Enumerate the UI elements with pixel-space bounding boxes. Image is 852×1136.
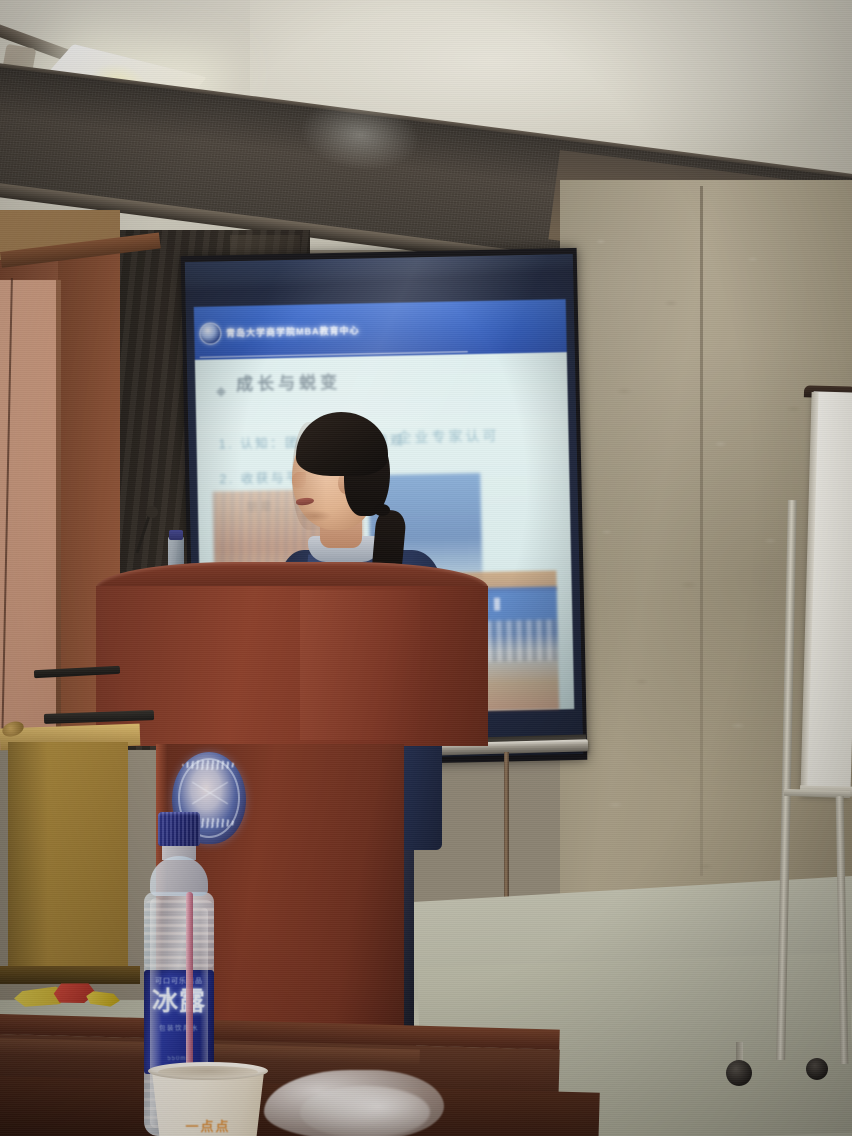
slide-header-band: 青岛大学商学院MBA教育中心	[193, 299, 567, 360]
pink-straw	[186, 892, 193, 1078]
cup-interior	[158, 1066, 258, 1078]
slide-header-text: 青岛大学商学院MBA教育中心	[226, 324, 360, 340]
slide-title-bullet-icon	[216, 387, 226, 397]
whiteboard-caster-wheel	[726, 1060, 752, 1086]
bottle-shoulder	[150, 856, 208, 896]
microphone-head-icon	[146, 506, 158, 518]
plastic-bag-highlight	[300, 1086, 430, 1136]
bottle-neck	[162, 844, 196, 860]
university-seal-icon	[199, 322, 221, 344]
lecture-hall-photo: 青岛大学商学院MBA教育中心 成长与蜕变 1. 认知：团队协作、价值观 2. 收…	[0, 0, 852, 1136]
paper-cup: 一点点	[148, 1062, 268, 1136]
presenter-hair-tie	[374, 504, 390, 516]
podium-body	[96, 586, 488, 746]
presenter-nose	[292, 472, 306, 488]
cup-body: 一点点	[152, 1072, 264, 1136]
slide-title: 成长与蜕变	[236, 367, 342, 394]
bottle-cap-ribs	[158, 812, 200, 846]
crest-text-upper	[182, 760, 236, 770]
chin-shadow	[298, 510, 332, 522]
cup-logo-text: 一点点	[162, 1116, 254, 1135]
slide-header-rule	[200, 351, 468, 358]
wall-seam	[700, 186, 703, 876]
side-table-base	[0, 966, 140, 984]
podium-sheen	[300, 590, 420, 740]
side-table-shadow	[8, 742, 48, 972]
whiteboard-caster-wheel-2	[806, 1058, 828, 1080]
left-panel-edge	[56, 280, 61, 750]
podium-bottle-cap	[169, 530, 183, 540]
crest-mountain-icon	[192, 782, 228, 804]
